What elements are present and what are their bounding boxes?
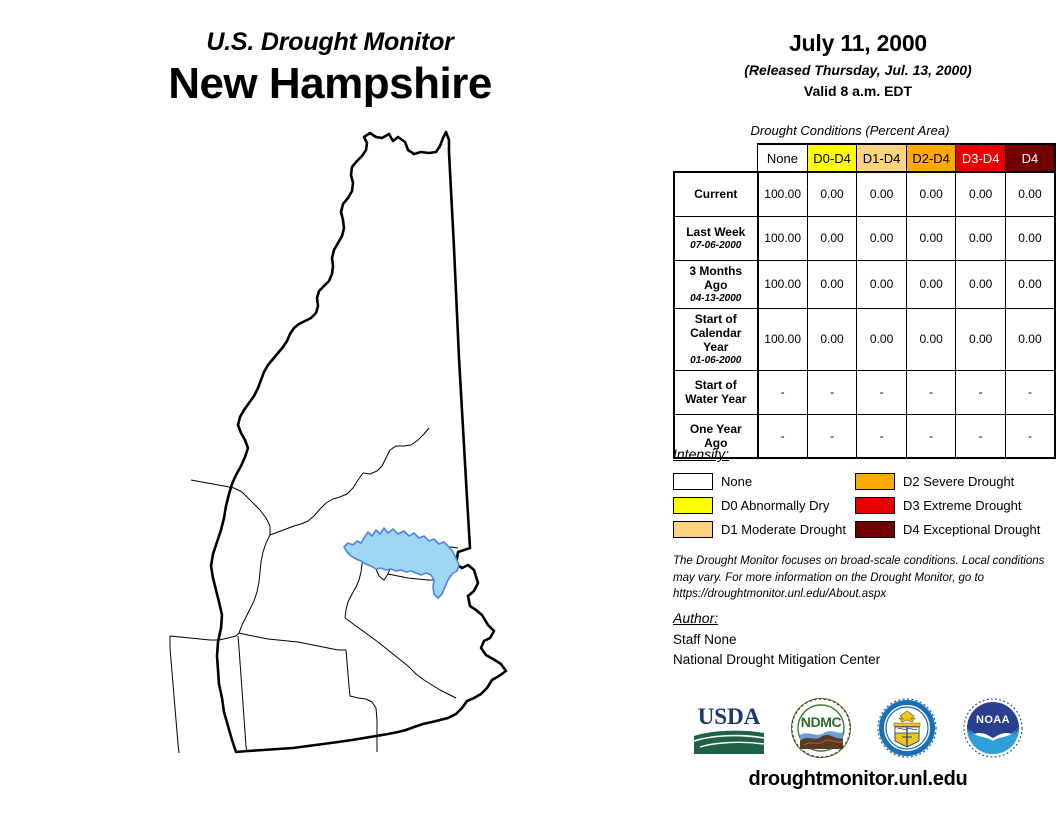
table-cell: 0.00 — [857, 216, 907, 260]
ndmc-logo: NDMC — [790, 697, 852, 759]
state-outline — [211, 132, 506, 752]
intensity-legend: Intensity: NoneD2 Severe DroughtD0 Abnor… — [673, 446, 1048, 541]
logo-row: USDA NDMC — [660, 692, 1056, 764]
legend-label: D2 Severe Drought — [903, 474, 1014, 489]
row-label-date: 07-06-2000 — [677, 240, 755, 252]
new-hampshire-map-svg — [118, 128, 548, 788]
table-cell: 0.00 — [906, 260, 956, 308]
table-cell: 0.00 — [857, 308, 907, 370]
page-title: New Hampshire — [0, 61, 660, 107]
legend-swatch — [855, 521, 895, 538]
author-heading: Author: — [673, 610, 1051, 626]
table-cell: 100.00 — [758, 308, 808, 370]
table-cell: 0.00 — [807, 216, 857, 260]
table-header: NoneD0-D4D1-D4D2-D4D3-D4D4 — [674, 144, 1055, 172]
legend-item: D4 Exceptional Drought — [855, 521, 1048, 538]
table-cell: 0.00 — [857, 172, 907, 216]
legend-grid: NoneD2 Severe DroughtD0 Abnormally DryD3… — [673, 469, 1048, 541]
table-row: Current100.000.000.000.000.000.00 — [674, 172, 1055, 216]
svg-text:NOAA: NOAA — [976, 714, 1010, 726]
noaa-logo: NOAA — [962, 697, 1024, 759]
commerce-logo — [876, 697, 938, 759]
row-label-date: 04-13-2000 — [677, 293, 755, 305]
table-cell: 0.00 — [956, 260, 1006, 308]
table-row: 3 Months Ago04-13-2000100.000.000.000.00… — [674, 260, 1055, 308]
site-url[interactable]: droughtmonitor.unl.edu — [660, 768, 1056, 791]
row-label: Start ofWater Year — [674, 370, 758, 414]
table-col-header-none: None — [758, 144, 808, 172]
table-cell: - — [956, 370, 1006, 414]
table-cell: 100.00 — [758, 216, 808, 260]
table-cell: - — [906, 370, 956, 414]
table-cell: 0.00 — [1005, 172, 1055, 216]
table-cell: 100.00 — [758, 172, 808, 216]
table-cell: 0.00 — [906, 172, 956, 216]
map-panel: U.S. Drought Monitor New Hampshire — [0, 0, 660, 816]
table-row: Last Week07-06-2000100.000.000.000.000.0… — [674, 216, 1055, 260]
table-cell: 0.00 — [906, 308, 956, 370]
table-cell: 0.00 — [857, 260, 907, 308]
author-name: Staff None — [673, 630, 1051, 650]
legend-swatch — [673, 521, 713, 538]
table-corner-cell — [674, 144, 758, 172]
row-label: Start ofCalendar Year01-06-2000 — [674, 308, 758, 370]
table-row: Start ofCalendar Year01-06-2000100.000.0… — [674, 308, 1055, 370]
info-panel: July 11, 2000 (Released Thursday, Jul. 1… — [660, 0, 1056, 816]
legend-swatch — [855, 497, 895, 514]
table-cell: 0.00 — [807, 260, 857, 308]
table-header-row: NoneD0-D4D1-D4D2-D4D3-D4D4 — [674, 144, 1055, 172]
legend-label: D1 Moderate Drought — [721, 522, 846, 537]
author-organization: National Drought Mitigation Center — [673, 650, 1051, 670]
page-subtitle: U.S. Drought Monitor — [0, 28, 660, 57]
legend-swatch — [855, 473, 895, 490]
legend-item: D1 Moderate Drought — [673, 521, 855, 538]
table-cell: 0.00 — [1005, 216, 1055, 260]
legend-label: D3 Extreme Drought — [903, 498, 1022, 513]
table-col-header-d4: D4 — [1005, 144, 1055, 172]
intensity-heading: Intensity: — [673, 446, 1048, 462]
legend-item: D2 Severe Drought — [855, 473, 1048, 490]
table-cell: - — [1005, 370, 1055, 414]
row-label: Last Week07-06-2000 — [674, 216, 758, 260]
table-col-header-d2-d4: D2-D4 — [906, 144, 956, 172]
valid-time: Valid 8 a.m. EDT — [660, 83, 1056, 99]
author-section: Author: Staff None National Drought Miti… — [673, 610, 1051, 671]
table-cell: 0.00 — [807, 172, 857, 216]
table-cell: 0.00 — [1005, 260, 1055, 308]
legend-item: None — [673, 473, 855, 490]
date-block: July 11, 2000 (Released Thursday, Jul. 1… — [660, 30, 1056, 99]
legend-label: D0 Abnormally Dry — [721, 498, 829, 513]
table-col-header-d3-d4: D3-D4 — [956, 144, 1006, 172]
table-cell: - — [807, 370, 857, 414]
table-cell: 0.00 — [956, 216, 1006, 260]
table-cell: - — [857, 370, 907, 414]
legend-label: None — [721, 474, 752, 489]
table-caption: Drought Conditions (Percent Area) — [660, 123, 1040, 138]
legend-item: D0 Abnormally Dry — [673, 497, 855, 514]
table-col-header-d0-d4: D0-D4 — [807, 144, 857, 172]
row-label: 3 Months Ago04-13-2000 — [674, 260, 758, 308]
legend-swatch — [673, 497, 713, 514]
table-cell: 0.00 — [906, 216, 956, 260]
title-block: U.S. Drought Monitor New Hampshire — [0, 28, 660, 107]
row-label-date: 01-06-2000 — [677, 355, 755, 367]
release-date: (Released Thursday, Jul. 13, 2000) — [660, 62, 1056, 78]
table-cell: 100.00 — [758, 260, 808, 308]
svg-text:USDA: USDA — [698, 704, 761, 729]
disclaimer-text: The Drought Monitor focuses on broad-sca… — [673, 553, 1051, 603]
table-col-header-d1-d4: D1-D4 — [857, 144, 907, 172]
valid-date: July 11, 2000 — [660, 30, 1056, 57]
usda-logo: USDA — [692, 700, 766, 756]
table-cell: - — [758, 370, 808, 414]
legend-swatch — [673, 473, 713, 490]
row-label: Current — [674, 172, 758, 216]
table-cell: 0.00 — [1005, 308, 1055, 370]
table-cell: 0.00 — [956, 308, 1006, 370]
table-body: Current100.000.000.000.000.000.00Last We… — [674, 172, 1055, 458]
drought-conditions-table: NoneD0-D4D1-D4D2-D4D3-D4D4 Current100.00… — [673, 143, 1056, 459]
legend-item: D3 Extreme Drought — [855, 497, 1048, 514]
table-cell: 0.00 — [956, 172, 1006, 216]
state-map — [118, 128, 548, 788]
table-cell: 0.00 — [807, 308, 857, 370]
table-row: Start ofWater Year------ — [674, 370, 1055, 414]
svg-text:NDMC: NDMC — [801, 714, 842, 730]
legend-label: D4 Exceptional Drought — [903, 522, 1040, 537]
